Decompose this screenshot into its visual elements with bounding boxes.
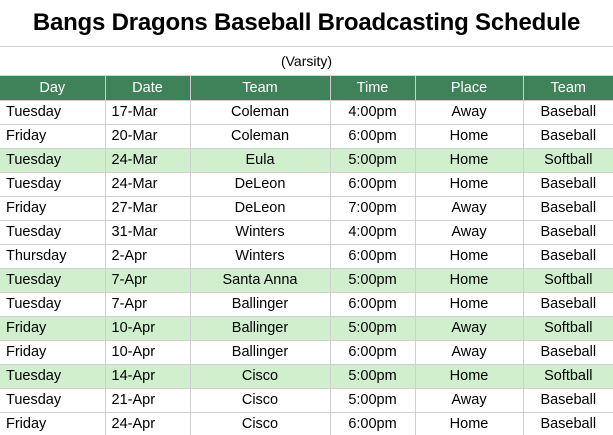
cell-type: Baseball: [523, 412, 613, 435]
table-row[interactable]: Tuesday14-AprCisco5:00pmHomeSoftball: [0, 364, 613, 388]
table-row[interactable]: Tuesday21-AprCisco5:00pmAwayBaseball: [0, 388, 613, 412]
cell-day: Friday: [0, 340, 105, 364]
cell-time: 5:00pm: [330, 388, 415, 412]
cell-date: 20-Mar: [105, 124, 190, 148]
table-header-row: Day Date Team Time Place Team: [0, 76, 613, 100]
cell-time: 5:00pm: [330, 364, 415, 388]
table-row[interactable]: Friday24-AprCisco6:00pmHomeBaseball: [0, 412, 613, 435]
cell-time: 5:00pm: [330, 148, 415, 172]
page-title: Bangs Dragons Baseball Broadcasting Sche…: [33, 9, 580, 37]
column-header-time[interactable]: Time: [330, 76, 415, 100]
cell-team: Ballinger: [190, 340, 330, 364]
cell-type: Softball: [523, 364, 613, 388]
cell-date: 24-Mar: [105, 172, 190, 196]
table-row[interactable]: Tuesday24-MarEula5:00pmHomeSoftball: [0, 148, 613, 172]
cell-time: 6:00pm: [330, 172, 415, 196]
cell-day: Friday: [0, 124, 105, 148]
cell-team: Ballinger: [190, 316, 330, 340]
cell-day: Tuesday: [0, 220, 105, 244]
cell-place: Away: [415, 316, 523, 340]
schedule-page: Bangs Dragons Baseball Broadcasting Sche…: [0, 0, 613, 435]
cell-time: 5:00pm: [330, 268, 415, 292]
cell-team: Winters: [190, 244, 330, 268]
cell-team: DeLeon: [190, 196, 330, 220]
cell-place: Home: [415, 268, 523, 292]
table-row[interactable]: Tuesday17-MarColeman4:00pmAwayBaseball: [0, 100, 613, 124]
cell-type: Softball: [523, 148, 613, 172]
cell-time: 7:00pm: [330, 196, 415, 220]
cell-type: Softball: [523, 316, 613, 340]
cell-team: Winters: [190, 220, 330, 244]
table-row[interactable]: Friday10-AprBallinger6:00pmAwayBaseball: [0, 340, 613, 364]
column-header-day[interactable]: Day: [0, 76, 105, 100]
table-row[interactable]: Tuesday31-MarWinters4:00pmAwayBaseball: [0, 220, 613, 244]
cell-team: Santa Anna: [190, 268, 330, 292]
page-title-row: Bangs Dragons Baseball Broadcasting Sche…: [0, 0, 613, 47]
cell-type: Baseball: [523, 100, 613, 124]
cell-time: 6:00pm: [330, 340, 415, 364]
cell-place: Away: [415, 196, 523, 220]
cell-time: 4:00pm: [330, 100, 415, 124]
cell-team: Coleman: [190, 124, 330, 148]
cell-date: 24-Mar: [105, 148, 190, 172]
cell-team: DeLeon: [190, 172, 330, 196]
cell-place: Home: [415, 412, 523, 435]
cell-date: 10-Apr: [105, 316, 190, 340]
cell-time: 6:00pm: [330, 244, 415, 268]
table-row[interactable]: Tuesday7-AprBallinger6:00pmHomeBaseball: [0, 292, 613, 316]
column-header-place[interactable]: Place: [415, 76, 523, 100]
cell-time: 6:00pm: [330, 292, 415, 316]
schedule-table: Day Date Team Time Place Team Tuesday17-…: [0, 76, 613, 435]
cell-place: Home: [415, 172, 523, 196]
column-header-sport[interactable]: Team: [523, 76, 613, 100]
cell-time: 6:00pm: [330, 412, 415, 435]
cell-team: Cisco: [190, 388, 330, 412]
page-subtitle-row: (Varsity): [0, 47, 613, 76]
cell-time: 6:00pm: [330, 124, 415, 148]
table-row[interactable]: Friday10-AprBallinger5:00pmAwaySoftball: [0, 316, 613, 340]
cell-date: 7-Apr: [105, 292, 190, 316]
cell-date: 27-Mar: [105, 196, 190, 220]
cell-place: Away: [415, 220, 523, 244]
cell-date: 31-Mar: [105, 220, 190, 244]
cell-team: Cisco: [190, 412, 330, 435]
cell-team: Cisco: [190, 364, 330, 388]
table-row[interactable]: Friday27-MarDeLeon7:00pmAwayBaseball: [0, 196, 613, 220]
cell-day: Tuesday: [0, 268, 105, 292]
table-header: Day Date Team Time Place Team: [0, 76, 613, 100]
cell-type: Baseball: [523, 244, 613, 268]
cell-date: 7-Apr: [105, 268, 190, 292]
cell-type: Baseball: [523, 124, 613, 148]
cell-day: Tuesday: [0, 172, 105, 196]
cell-place: Away: [415, 340, 523, 364]
cell-date: 2-Apr: [105, 244, 190, 268]
table-body: Tuesday17-MarColeman4:00pmAwayBaseballFr…: [0, 100, 613, 435]
cell-time: 5:00pm: [330, 316, 415, 340]
cell-place: Home: [415, 364, 523, 388]
table-row[interactable]: Thursday2-AprWinters6:00pmHomeBaseball: [0, 244, 613, 268]
column-header-team[interactable]: Team: [190, 76, 330, 100]
cell-type: Softball: [523, 268, 613, 292]
cell-day: Friday: [0, 316, 105, 340]
cell-place: Home: [415, 124, 523, 148]
cell-team: Coleman: [190, 100, 330, 124]
cell-day: Tuesday: [0, 364, 105, 388]
cell-place: Home: [415, 292, 523, 316]
cell-type: Baseball: [523, 292, 613, 316]
table-row[interactable]: Tuesday7-AprSanta Anna5:00pmHomeSoftball: [0, 268, 613, 292]
cell-date: 24-Apr: [105, 412, 190, 435]
cell-day: Friday: [0, 196, 105, 220]
cell-date: 14-Apr: [105, 364, 190, 388]
page-subtitle: (Varsity): [281, 53, 332, 69]
cell-date: 17-Mar: [105, 100, 190, 124]
table-row[interactable]: Tuesday24-MarDeLeon6:00pmHomeBaseball: [0, 172, 613, 196]
cell-type: Baseball: [523, 388, 613, 412]
cell-day: Friday: [0, 412, 105, 435]
cell-date: 10-Apr: [105, 340, 190, 364]
cell-place: Away: [415, 100, 523, 124]
column-header-date[interactable]: Date: [105, 76, 190, 100]
cell-day: Tuesday: [0, 292, 105, 316]
cell-day: Tuesday: [0, 388, 105, 412]
cell-day: Tuesday: [0, 100, 105, 124]
cell-type: Baseball: [523, 172, 613, 196]
cell-day: Thursday: [0, 244, 105, 268]
cell-team: Eula: [190, 148, 330, 172]
table-row[interactable]: Friday20-MarColeman6:00pmHomeBaseball: [0, 124, 613, 148]
cell-place: Away: [415, 388, 523, 412]
cell-place: Home: [415, 148, 523, 172]
cell-place: Home: [415, 244, 523, 268]
cell-type: Baseball: [523, 220, 613, 244]
cell-time: 4:00pm: [330, 220, 415, 244]
cell-team: Ballinger: [190, 292, 330, 316]
cell-date: 21-Apr: [105, 388, 190, 412]
cell-day: Tuesday: [0, 148, 105, 172]
cell-type: Baseball: [523, 196, 613, 220]
cell-type: Baseball: [523, 340, 613, 364]
